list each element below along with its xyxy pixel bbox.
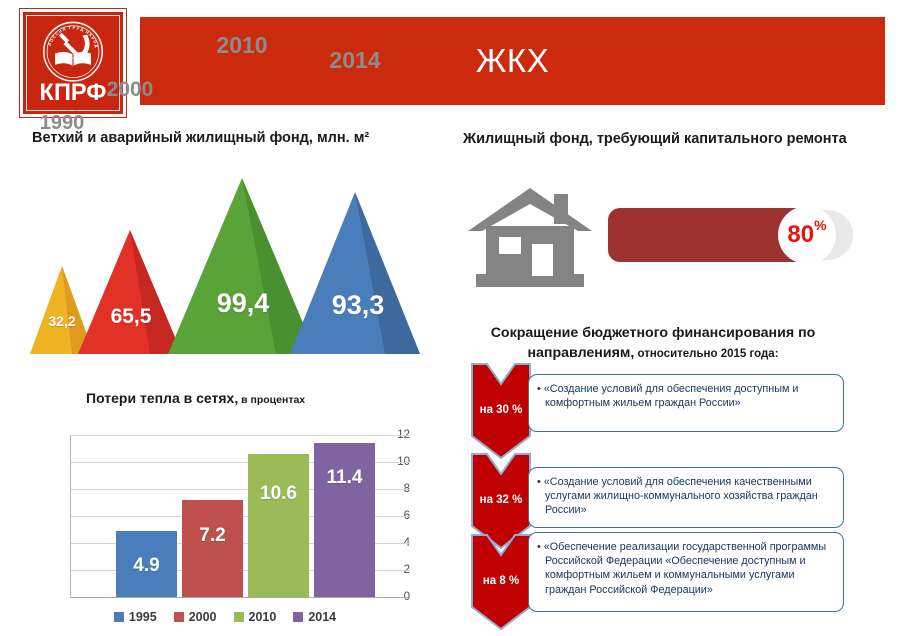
progress-value: 80 xyxy=(787,223,814,247)
budget-arrow-3: на 8 % xyxy=(470,533,532,631)
legend-item-2000: 2000 xyxy=(174,610,217,624)
infographic-page: Р О С С И Я Т Р У Д Н А Р О Д xyxy=(0,0,900,636)
progress-value-knob: 80% xyxy=(778,206,836,264)
budget-text-2: «Создание условий для обеспечения качест… xyxy=(537,475,834,518)
bar-2010 xyxy=(248,454,309,597)
svg-text:Я: Я xyxy=(62,26,67,32)
progress-percent-sign: % xyxy=(814,218,826,232)
legend-swatch-1995 xyxy=(114,612,124,622)
budget-title-sub: относительно 2015 года: xyxy=(634,348,778,360)
legend-label-1995: 1995 xyxy=(129,610,157,624)
bar-chart-title-sub: в процентах xyxy=(238,394,305,406)
axis-baseline xyxy=(70,597,410,598)
repair-progress-bar: 80% xyxy=(608,206,853,264)
budget-text-1: «Создание условий для обеспечения доступ… xyxy=(537,382,834,410)
budget-arrow-1: на 30 % xyxy=(470,362,532,460)
bar-label-1995: 4.9 xyxy=(116,555,177,577)
budget-text-box-3: «Обеспечение реализации государственной … xyxy=(528,532,844,612)
progress-fill xyxy=(608,208,804,262)
legend-item-1995: 1995 xyxy=(114,610,157,624)
bar-chart-legend: 1995 2000 2010 2014 xyxy=(40,610,410,624)
bar-label-2010: 10.6 xyxy=(246,483,311,505)
legend-label-2014: 2014 xyxy=(308,610,336,624)
house-icon xyxy=(466,186,594,296)
legend-label-2000: 2000 xyxy=(189,610,217,624)
pyramid-year-2010: 2010 xyxy=(192,32,292,59)
pyramid-value-2000: 65,5 xyxy=(96,305,166,329)
house-section-title: Жилищный фонд, требующий капитального ре… xyxy=(463,131,847,147)
legend-item-2014: 2014 xyxy=(293,610,336,624)
pyramid-chart-svg xyxy=(0,150,440,365)
budget-text-box-1: «Создание условий для обеспечения доступ… xyxy=(528,374,844,432)
pyramid-year-2000: 2000 xyxy=(80,78,180,102)
budget-arrow-label-3: на 8 % xyxy=(470,575,532,587)
pyramid-2010 xyxy=(168,178,316,354)
legend-swatch-2014 xyxy=(293,612,303,622)
pyramid-value-2014: 93,3 xyxy=(313,290,403,321)
budget-text-3: «Обеспечение реализации государственной … xyxy=(537,540,834,597)
pyramid-value-2010: 99,4 xyxy=(198,288,288,319)
legend-swatch-2000 xyxy=(174,612,184,622)
svg-text:Р: Р xyxy=(72,25,75,30)
bar-2000 xyxy=(182,500,243,597)
pyramid-year-1990: 1990 xyxy=(2,112,122,135)
pyramid-year-2014: 2014 xyxy=(305,47,405,74)
bar-chart-title-main: Потери тепла в сетях, xyxy=(86,390,238,406)
pyramid-2014 xyxy=(290,192,420,354)
budget-arrow-label-2: на 32 % xyxy=(470,494,532,506)
gridline-12 xyxy=(70,435,410,436)
pyramid-2000 xyxy=(78,230,182,354)
pyramid-chart: 1990 2000 2010 2014 32,2 65,5 99,4 93,3 xyxy=(0,150,440,365)
budget-text-box-2: «Создание условий для обеспечения качест… xyxy=(528,467,844,528)
bar-label-2014: 11.4 xyxy=(312,467,377,489)
legend-swatch-2010 xyxy=(234,612,244,622)
heat-loss-bar-chart: 12 10 8 6 4 2 0 4.9 7.2 10.6 11.4 1995 xyxy=(40,425,410,630)
legend-item-2010: 2010 xyxy=(234,610,277,624)
bar-chart-title: Потери тепла в сетях, в процентах xyxy=(86,390,305,406)
svg-text:Д: Д xyxy=(80,26,85,32)
budget-arrow-label-1: на 30 % xyxy=(470,404,532,416)
pyramid-value-1990: 32,2 xyxy=(32,313,92,329)
budget-section-title: Сокращение бюджетного финансирования по … xyxy=(458,323,848,364)
page-title-banner: ЖКХ xyxy=(140,17,885,105)
bar-label-2000: 7.2 xyxy=(182,525,243,547)
page-title: ЖКХ xyxy=(476,42,549,80)
y-axis-line xyxy=(70,435,71,598)
legend-label-2010: 2010 xyxy=(249,610,277,624)
